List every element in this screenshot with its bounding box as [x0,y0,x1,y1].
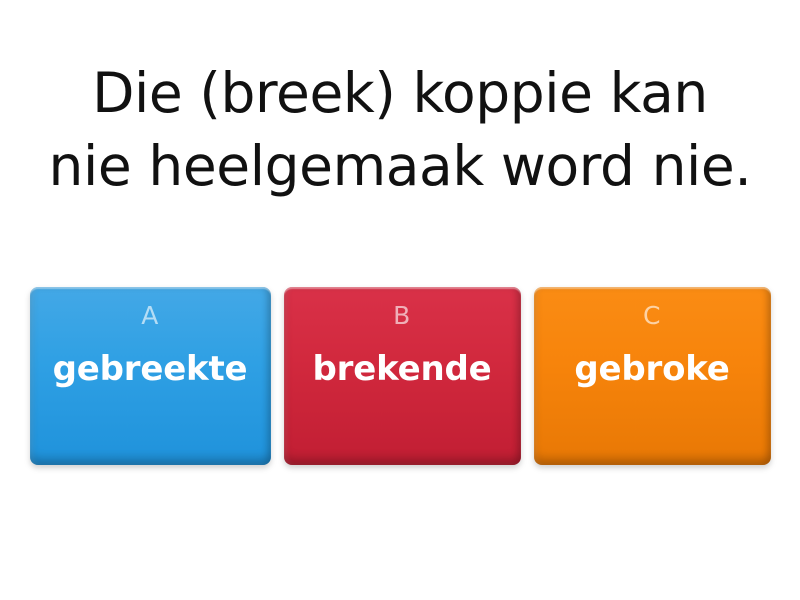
answer-label-a: gebreekte [47,350,254,389]
answer-letter-a: A [141,303,159,328]
answer-letter-b: B [393,303,411,328]
question-text: Die (breek) koppie kan nie heelgemaak wo… [49,57,752,203]
answer-label-b: brekende [307,350,498,389]
answer-option-c[interactable]: C gebroke [534,287,771,465]
answer-option-a[interactable]: A gebreekte [30,287,271,465]
answer-label-c: gebroke [568,350,735,389]
question-area: Die (breek) koppie kan nie heelgemaak wo… [0,0,800,270]
quiz-screen: Die (breek) koppie kan nie heelgemaak wo… [0,0,800,600]
answer-letter-c: C [643,303,661,328]
answer-options-row: A gebreekte B brekende C gebroke [0,287,800,467]
answer-option-b[interactable]: B brekende [284,287,521,465]
